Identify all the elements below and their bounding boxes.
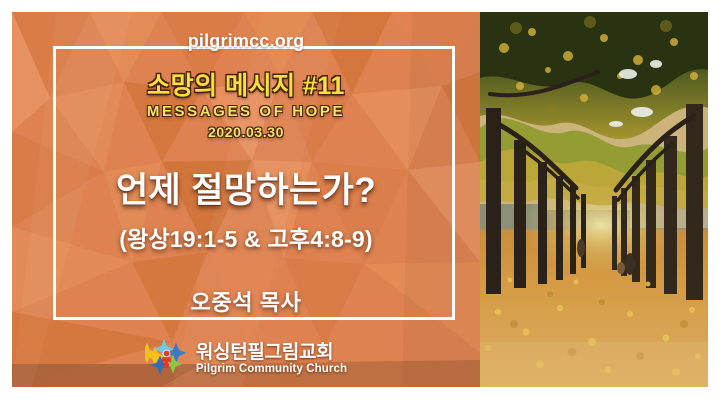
church-name-korean: 워싱턴필그림교회 [196, 343, 347, 362]
logo-text-block: 워싱턴필그림교회 Pilgrim Community Church [196, 343, 347, 376]
photo-image [480, 12, 708, 387]
low-poly-background [12, 12, 480, 387]
sermon-title-slide: pilgrimcc.org 소망의 메시지 #11 MESSAGES OF HO… [0, 0, 720, 405]
star-people-logo-icon [145, 339, 189, 379]
church-name-english: Pilgrim Community Church [196, 364, 347, 376]
website-url[interactable]: pilgrimcc.org [188, 31, 305, 52]
church-logo-lockup[interactable]: 워싱턴필그림교회 Pilgrim Community Church [12, 339, 480, 379]
slide-canvas: pilgrimcc.org 소망의 메시지 #11 MESSAGES OF HO… [12, 12, 708, 387]
left-orange-panel: pilgrimcc.org 소망의 메시지 #11 MESSAGES OF HO… [12, 12, 480, 387]
autumn-path-photo [480, 12, 708, 387]
